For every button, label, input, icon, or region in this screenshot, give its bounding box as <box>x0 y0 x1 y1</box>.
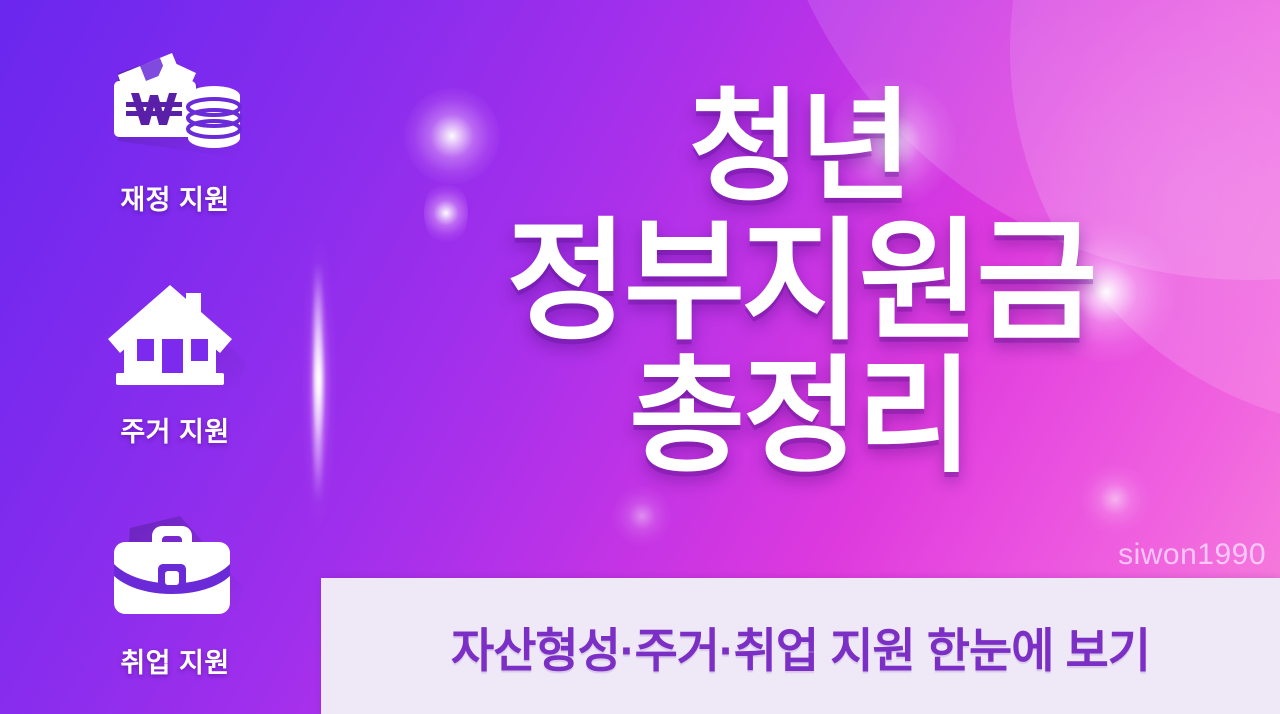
sparkle-glow-icon <box>612 486 672 546</box>
headline-line-2: 정부지원금 <box>430 216 1170 348</box>
feature-icon-column: 재정 지원 <box>60 40 290 680</box>
headline-line-1: 청년 <box>430 86 1170 208</box>
feature-label: 재정 지원 <box>120 178 229 217</box>
feature-label: 취업 지원 <box>120 641 229 680</box>
feature-item-employment-support: 취업 지원 <box>60 503 290 680</box>
feature-item-financial-support: 재정 지원 <box>60 40 290 217</box>
caption-text: 자산형성·주거·취업 지원 한눈에 보기 <box>451 612 1150 681</box>
house-icon <box>95 272 255 402</box>
watermark: siwon1990 <box>1118 538 1266 572</box>
light-streak-decoration <box>296 232 342 532</box>
thumbnail-canvas: 재정 지원 <box>0 0 1280 714</box>
headline-block: 청년 정부지원금 총정리 <box>430 86 1170 480</box>
light-streak-core <box>314 262 322 502</box>
feature-item-housing-support: 주거 지원 <box>60 272 290 449</box>
money-wallet-icon <box>95 40 255 170</box>
headline-line-3: 총정리 <box>430 354 1170 480</box>
caption-bar: 자산형성·주거·취업 지원 한눈에 보기 <box>321 578 1280 714</box>
briefcase-icon <box>95 503 255 633</box>
feature-label: 주거 지원 <box>120 410 229 449</box>
